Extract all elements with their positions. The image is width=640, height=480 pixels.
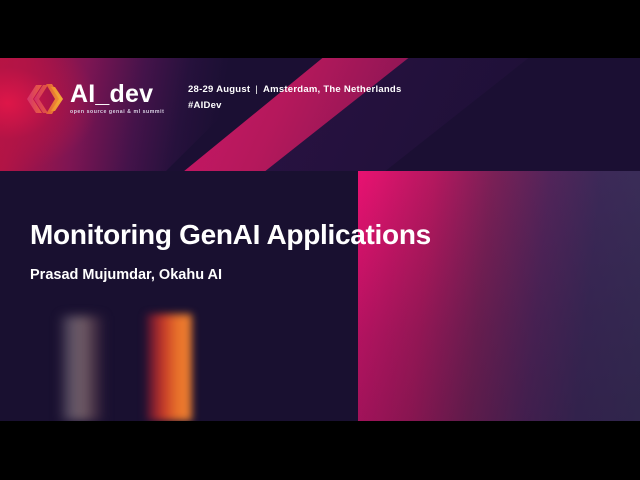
talk-title-block: Monitoring GenAI Applications Prasad Muj… xyxy=(30,218,610,285)
event-location: Amsterdam, The Netherlands xyxy=(263,84,401,95)
event-hashtag: #AIDev xyxy=(188,98,222,114)
logo-tagline: open source GenAI & ML Summit xyxy=(70,110,164,115)
decorative-orange-bar xyxy=(144,314,192,421)
event-dates: 28-29 August xyxy=(188,84,250,95)
meta-separator: | xyxy=(250,82,263,98)
talk-title: Monitoring GenAI Applications xyxy=(30,218,610,252)
event-date-location: 28-29 August|Amsterdam, The Netherlands xyxy=(188,82,402,98)
aidev-chevron-logo-icon xyxy=(22,82,66,116)
event-logo: AI_dev open source GenAI & ML Summit xyxy=(22,78,164,120)
talk-speaker: Prasad Mujumdar, Okahu AI xyxy=(30,265,610,285)
video-player-frame: AI_dev open source GenAI & ML Summit 28-… xyxy=(0,0,640,480)
logo-wordmark: AI_dev xyxy=(70,82,164,107)
logo-text: AI_dev open source GenAI & ML Summit xyxy=(70,82,164,115)
event-header-band: AI_dev open source GenAI & ML Summit 28-… xyxy=(0,58,640,171)
decorative-gray-bar xyxy=(58,316,106,421)
presentation-slide: AI_dev open source GenAI & ML Summit 28-… xyxy=(0,58,640,421)
